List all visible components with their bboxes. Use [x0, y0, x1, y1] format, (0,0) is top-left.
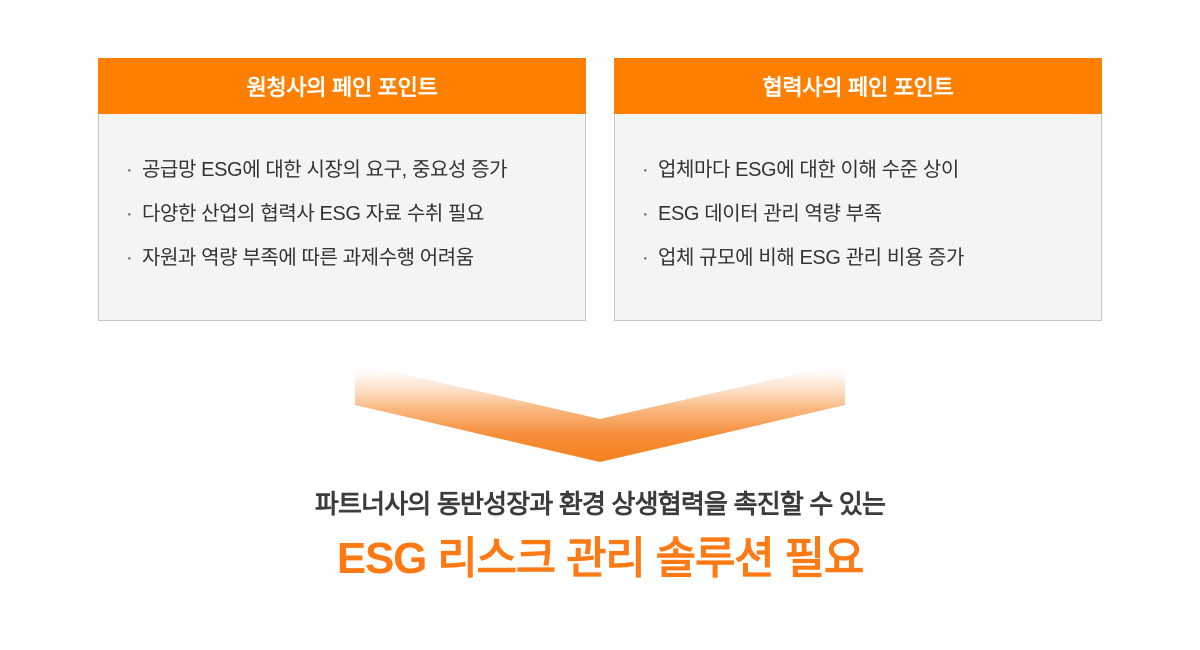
- infographic-stage: 원청사의 페인 포인트 · 공급망 ESG에 대한 시장의 요구, 중요성 증가…: [0, 0, 1200, 650]
- headline-block: 파트너사의 동반성장과 환경 상생협력을 촉진할 수 있는 ESG 리스크 관리…: [0, 487, 1200, 587]
- card-body-client: · 공급망 ESG에 대한 시장의 요구, 중요성 증가 · 다양한 산업의 협…: [99, 114, 585, 320]
- list-item-label: 업체마다 ESG에 대한 이해 수준 상이: [658, 148, 959, 192]
- list-item-label: 공급망 ESG에 대한 시장의 요구, 중요성 증가: [142, 148, 507, 192]
- headline-title: ESG 리스크 관리 솔루션 필요: [0, 531, 1200, 587]
- list-item-label: 자원과 역량 부족에 따른 과제수행 어려움: [142, 236, 474, 280]
- headline-subtitle: 파트너사의 동반성장과 환경 상생협력을 촉진할 수 있는: [0, 487, 1200, 521]
- bullet-dot-icon: ·: [642, 236, 658, 280]
- card-body-supplier: · 업체마다 ESG에 대한 이해 수준 상이 · ESG 데이터 관리 역량 …: [615, 114, 1101, 320]
- card-client-pain-points: 원청사의 페인 포인트 · 공급망 ESG에 대한 시장의 요구, 중요성 증가…: [98, 58, 586, 321]
- list-item: · 공급망 ESG에 대한 시장의 요구, 중요성 증가: [126, 148, 585, 192]
- bullet-dot-icon: ·: [126, 236, 142, 280]
- bullet-dot-icon: ·: [126, 148, 142, 192]
- list-item: · 업체 규모에 비해 ESG 관리 비용 증가: [642, 236, 1101, 280]
- list-item-label: 다양한 산업의 협력사 ESG 자료 수취 필요: [142, 192, 484, 236]
- list-item: · 다양한 산업의 협력사 ESG 자료 수취 필요: [126, 192, 585, 236]
- pain-point-cards: 원청사의 페인 포인트 · 공급망 ESG에 대한 시장의 요구, 중요성 증가…: [98, 58, 1102, 321]
- list-item-label: 업체 규모에 비해 ESG 관리 비용 증가: [658, 236, 964, 280]
- card-title-supplier: 협력사의 페인 포인트: [614, 58, 1102, 114]
- list-item-label: ESG 데이터 관리 역량 부족: [658, 192, 882, 236]
- bullet-dot-icon: ·: [642, 148, 658, 192]
- bullet-dot-icon: ·: [642, 192, 658, 236]
- list-item: · 업체마다 ESG에 대한 이해 수준 상이: [642, 148, 1101, 192]
- card-title-client: 원청사의 페인 포인트: [98, 58, 586, 114]
- chevron-down-icon: [355, 363, 845, 463]
- list-item: · 자원과 역량 부족에 따른 과제수행 어려움: [126, 236, 585, 280]
- bullet-dot-icon: ·: [126, 192, 142, 236]
- list-item: · ESG 데이터 관리 역량 부족: [642, 192, 1101, 236]
- card-supplier-pain-points: 협력사의 페인 포인트 · 업체마다 ESG에 대한 이해 수준 상이 · ES…: [614, 58, 1102, 321]
